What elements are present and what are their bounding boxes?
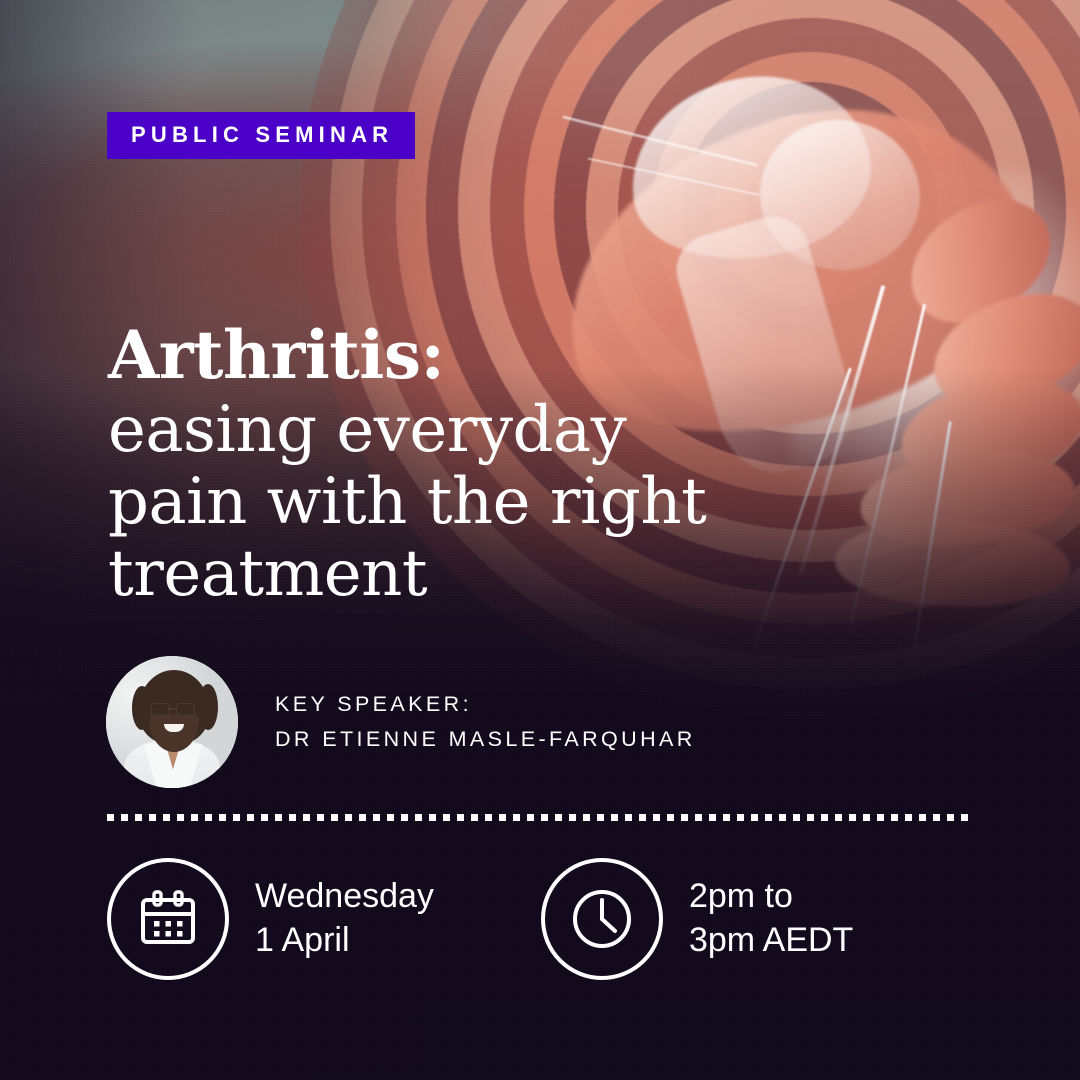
dotted-divider [107,814,975,821]
headline-line-1: Arthritis: [108,322,808,389]
page-title: Arthritis: easing everyday pain with the… [108,322,808,610]
avatar-glasses-bridge [168,708,176,710]
event-time-line-2: 3pm AEDT [689,919,853,963]
avatar-glasses-left [151,703,170,718]
headline-line-3: pain with the right [108,467,808,539]
event-details-row: Wednesday 1 April 2pm to 3pm AEDT [107,858,853,980]
seminar-poster: PUBLIC SEMINAR Arthritis: easing everyda… [0,0,1080,1080]
event-date-line-1: Wednesday [255,875,434,919]
event-date-item: Wednesday 1 April [107,858,434,980]
headline-line-4: treatment [108,539,808,611]
event-time-item: 2pm to 3pm AEDT [541,858,853,980]
speaker-name: DR ETIENNE MASLE-FARQUHAR [275,722,696,757]
calendar-icon [107,858,229,980]
speaker-role-label: KEY SPEAKER: [275,687,696,722]
speaker-block: KEY SPEAKER: DR ETIENNE MASLE-FARQUHAR [106,656,696,788]
public-seminar-badge: PUBLIC SEMINAR [107,112,415,159]
event-time-line-1: 2pm to [689,875,853,919]
event-date-line-2: 1 April [255,919,434,963]
avatar-glasses-right [176,703,195,718]
headline-line-2: easing everyday [108,395,808,467]
clock-icon [541,858,663,980]
avatar [106,656,238,788]
